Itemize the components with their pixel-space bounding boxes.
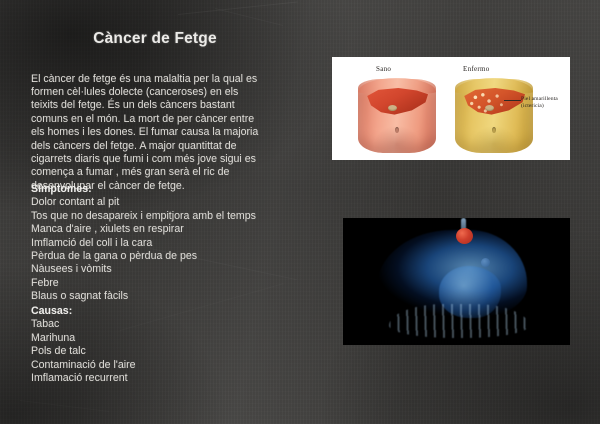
liver-nodule-icon bbox=[481, 258, 490, 267]
page-title: Càncer de Fetge bbox=[30, 30, 280, 48]
causes-list: Tabac Marihuna Pols de talc Contaminació… bbox=[31, 318, 281, 385]
list-item: Tos que no desapareix i empitjora amb el… bbox=[31, 210, 281, 223]
callout-line-2: (ictericia) bbox=[521, 103, 569, 110]
ill-torso-label: Enfermo bbox=[463, 65, 490, 73]
symptoms-heading: Símptomes: bbox=[31, 183, 281, 196]
tumor-mass-shape bbox=[361, 234, 453, 317]
list-item: Pols de talc bbox=[31, 345, 281, 358]
callout-line-1: Piel amarillenta bbox=[521, 96, 569, 103]
chalk-scratch-icon bbox=[20, 400, 109, 412]
healthy-torso-illustration bbox=[358, 79, 436, 153]
chalk-scratch-icon bbox=[215, 8, 283, 26]
list-item: Contaminació de l'aire bbox=[31, 359, 281, 372]
gallbladder-icon bbox=[485, 105, 494, 111]
list-item: Imflamció del coll i la cara bbox=[31, 237, 281, 250]
list-item: Tabac bbox=[31, 318, 281, 331]
list-item: Nàusees i vòmits bbox=[31, 263, 281, 276]
list-item: Manca d'aire , xiulets en respirar bbox=[31, 223, 281, 236]
jaundice-callout: Piel amarillenta (ictericia) bbox=[521, 96, 569, 110]
list-item: Febre bbox=[31, 277, 281, 290]
symptoms-section: Símptomes: Dolor contant al pit Tos que … bbox=[31, 183, 281, 304]
list-item: Pèrdua de la gana o pèrdua de pes bbox=[31, 250, 281, 263]
list-item: Blaus o sagnat fàcils bbox=[31, 290, 281, 303]
causes-heading: Causas: bbox=[31, 305, 281, 318]
ill-torso-illustration bbox=[455, 79, 533, 153]
list-item: Dolor contant al pit bbox=[31, 196, 281, 209]
list-item: Marihuna bbox=[31, 332, 281, 345]
liver-tumor-render-image bbox=[343, 218, 570, 345]
healthy-torso-label: Sano bbox=[376, 65, 391, 73]
navel-icon bbox=[492, 127, 496, 133]
slide-canvas: Càncer de Fetge El càncer de fetge és un… bbox=[0, 0, 600, 424]
symptoms-list: Dolor contant al pit Tos que no desapare… bbox=[31, 196, 281, 303]
chalk-scratch-icon bbox=[178, 1, 297, 15]
gallbladder-icon bbox=[388, 105, 397, 111]
causes-section: Causas: Tabac Marihuna Pols de talc Cont… bbox=[31, 305, 281, 385]
navel-icon bbox=[395, 127, 399, 133]
list-item: Imflamació recurrent bbox=[31, 372, 281, 385]
cirrhotic-liver-icon bbox=[463, 88, 525, 119]
callout-leader-line-icon bbox=[504, 100, 521, 101]
anatomy-comparison-image: Sano Enfermo Piel amarillenta (ictericia… bbox=[332, 57, 570, 160]
healthy-liver-icon bbox=[366, 88, 428, 119]
intro-paragraph: El càncer de fetge és una malaltia per l… bbox=[31, 73, 267, 194]
satellite-tumor-shape bbox=[456, 228, 473, 244]
